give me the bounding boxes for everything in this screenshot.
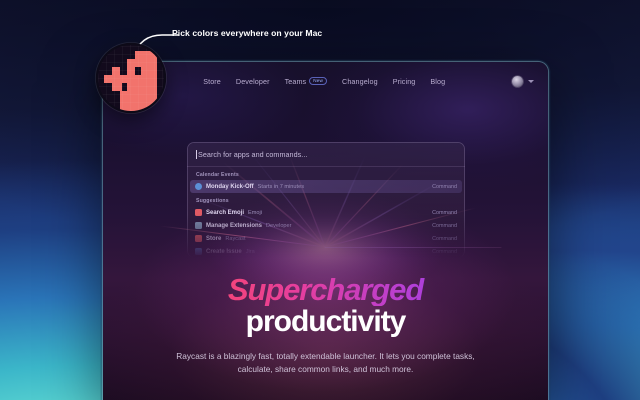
search-input[interactable]: Search for apps and commands... bbox=[198, 150, 307, 159]
nav-link-label: Pricing bbox=[393, 77, 416, 86]
palette-row-subtitle: Starts in 7 minutes bbox=[258, 184, 304, 190]
nav-link-blog[interactable]: Blog bbox=[430, 77, 445, 86]
palette-row-subtitle: Developer bbox=[266, 223, 292, 229]
palette-row-kind: Command bbox=[432, 223, 457, 229]
annotation-label: Pick colors everywhere on your Mac bbox=[172, 28, 322, 38]
palette-row[interactable]: Search EmojiEmojiCommand bbox=[187, 206, 465, 219]
nav-link-store[interactable]: Store bbox=[203, 77, 221, 86]
nav-links: StoreDeveloperTeamsNewChangelogPricingBl… bbox=[203, 77, 445, 86]
palette-row-subtitle: Raycast bbox=[225, 236, 245, 242]
nav-link-teams[interactable]: TeamsNew bbox=[285, 77, 327, 86]
palette-row-title: Create Issue bbox=[206, 249, 242, 255]
hero-headline-plain: productivity bbox=[103, 305, 548, 339]
palette-section-label: Suggestions bbox=[187, 193, 465, 206]
issue-icon bbox=[195, 248, 202, 255]
nav-link-developer[interactable]: Developer bbox=[236, 77, 270, 86]
palette-results: Calendar EventsMonday Kick-OffStarts in … bbox=[187, 167, 465, 258]
text-caret bbox=[196, 150, 197, 159]
color-picker-magnifier-icon bbox=[98, 45, 164, 111]
browser-window: cast StoreDeveloperTeamsNewChangelogPric… bbox=[103, 62, 548, 400]
palette-row-kind: Command bbox=[432, 184, 457, 190]
nav-link-changelog[interactable]: Changelog bbox=[342, 77, 378, 86]
palette-row-kind: Command bbox=[432, 249, 457, 255]
nav-link-label: Teams bbox=[285, 77, 307, 86]
palette-row-title: Monday Kick-Off bbox=[206, 184, 254, 190]
nav-link-label: Blog bbox=[430, 77, 445, 86]
palette-section-label: Calendar Events bbox=[187, 167, 465, 180]
nav-link-label: Store bbox=[203, 77, 221, 86]
palette-row[interactable]: StoreRaycastCommand bbox=[187, 232, 465, 245]
hero-subtitle: Raycast is a blazingly fast, totally ext… bbox=[176, 350, 476, 376]
extensions-icon bbox=[195, 222, 202, 229]
palette-search-row[interactable]: Search for apps and commands... bbox=[187, 142, 465, 167]
palette-row-title: Store bbox=[206, 236, 221, 242]
pixel-grid-overlay bbox=[98, 45, 164, 111]
chevron-down-icon[interactable] bbox=[528, 80, 534, 83]
nav-link-label: Developer bbox=[236, 77, 270, 86]
emoji-icon bbox=[195, 209, 202, 216]
site-navbar: cast StoreDeveloperTeamsNewChangelogPric… bbox=[103, 62, 548, 100]
nav-link-label: Changelog bbox=[342, 77, 378, 86]
command-palette: Search for apps and commands... Calendar… bbox=[187, 142, 465, 258]
palette-row-kind: Command bbox=[432, 236, 457, 242]
palette-row-title: Search Emoji bbox=[206, 210, 244, 216]
hero-headline-italic: Supercharged bbox=[103, 274, 548, 306]
palette-row-subtitle: Emoji bbox=[248, 210, 262, 216]
user-avatar-icon[interactable] bbox=[512, 76, 523, 87]
hero-section: Supercharged productivity Raycast is a b… bbox=[103, 274, 548, 376]
calendar-icon bbox=[195, 183, 202, 190]
store-icon bbox=[195, 235, 202, 242]
palette-row-subtitle: Jira bbox=[246, 249, 255, 255]
palette-row[interactable]: Manage ExtensionsDeveloperCommand bbox=[187, 219, 465, 232]
palette-row[interactable]: Monday Kick-OffStarts in 7 minutesComman… bbox=[190, 180, 462, 193]
nav-link-pricing[interactable]: Pricing bbox=[393, 77, 416, 86]
nav-right-group bbox=[512, 76, 534, 87]
palette-row-title: Manage Extensions bbox=[206, 223, 262, 229]
hero-subtitle-line1: Raycast is a blazingly fast, totally ext… bbox=[176, 351, 414, 361]
new-badge: New bbox=[309, 77, 327, 86]
palette-row[interactable]: Create IssueJiraCommand bbox=[187, 245, 465, 258]
palette-row-kind: Command bbox=[432, 210, 457, 216]
